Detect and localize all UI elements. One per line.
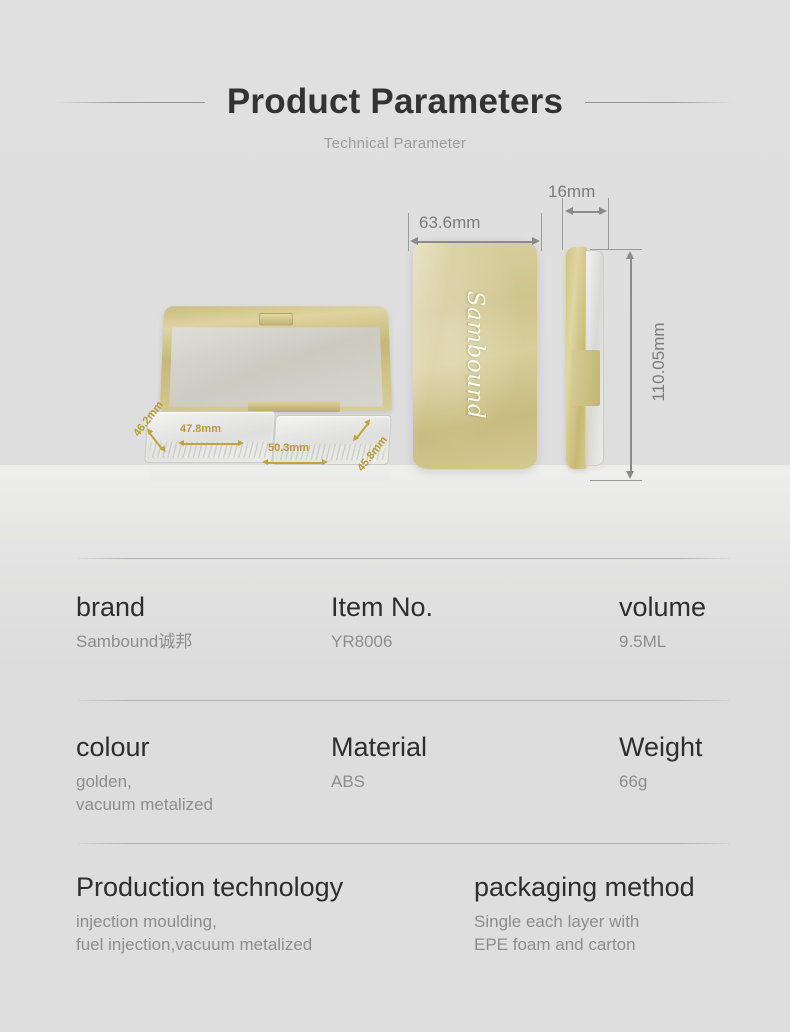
open-compact-view bbox=[140, 305, 395, 505]
side-gold-band bbox=[572, 350, 600, 406]
page-title: Product Parameters bbox=[227, 82, 563, 122]
spec-value-production-line2: fuel injection,vacuum metalized bbox=[76, 933, 474, 956]
spec-row-1: brand Sambound诚邦 Item No. YR8006 volume … bbox=[0, 592, 790, 653]
spec-key-weight: Weight bbox=[619, 732, 769, 762]
spec-cell-production-technology: Production technology injection moulding… bbox=[76, 872, 474, 956]
dimension-label-thickness: 16mm bbox=[548, 182, 595, 202]
ext-line-width-left bbox=[408, 213, 409, 251]
spec-value-volume: 9.5ML bbox=[619, 630, 769, 653]
product-photo-area: Sambound 63.6mm 16mm 110.05mm 46.2mm bbox=[0, 165, 790, 560]
spec-cell-volume: volume 9.5ML bbox=[619, 592, 769, 653]
spec-key-packaging-method: packaging method bbox=[474, 872, 774, 902]
dimension-arrow-height bbox=[626, 251, 635, 479]
ext-line-thickness-left bbox=[562, 198, 563, 250]
spec-key-production-technology: Production technology bbox=[76, 872, 474, 902]
ext-line-height-bottom bbox=[590, 480, 642, 481]
spec-value-brand: Sambound诚邦 bbox=[76, 630, 331, 653]
spec-row-3: Production technology injection moulding… bbox=[0, 872, 790, 956]
brand-logo: Sambound bbox=[462, 291, 488, 419]
dimension-arrow-width bbox=[410, 237, 540, 246]
spec-row-2: colour golden, vacuum metalized Material… bbox=[0, 732, 790, 816]
dimension-label-width: 63.6mm bbox=[419, 213, 480, 233]
spec-value-material: ABS bbox=[331, 770, 619, 793]
spec-key-item-no: Item No. bbox=[331, 592, 619, 622]
ext-line-thickness-right bbox=[608, 198, 609, 250]
compact-lid bbox=[160, 306, 392, 410]
spec-key-colour: colour bbox=[76, 732, 331, 762]
ext-line-width-right bbox=[541, 213, 542, 251]
dimension-label-open-pan-width: 50.3mm bbox=[268, 442, 309, 454]
spec-value-colour-line1: golden, bbox=[76, 770, 331, 793]
ext-line-height-top bbox=[590, 249, 642, 250]
spec-key-volume: volume bbox=[619, 592, 769, 622]
spec-cell-colour: colour golden, vacuum metalized bbox=[76, 732, 331, 816]
spec-cell-item-no: Item No. YR8006 bbox=[331, 592, 619, 653]
compact-clasp bbox=[259, 313, 293, 326]
spec-divider-2 bbox=[78, 700, 730, 701]
compact-tray-left bbox=[144, 411, 276, 463]
spec-cell-brand: brand Sambound诚邦 bbox=[76, 592, 331, 653]
spec-cell-material: Material ABS bbox=[331, 732, 619, 816]
title-row: Product Parameters bbox=[0, 78, 790, 126]
title-decoration-line-right bbox=[585, 102, 733, 103]
compact-mirror-panel bbox=[169, 327, 383, 406]
compact-side-view bbox=[566, 247, 606, 469]
spec-cell-weight: Weight 66g bbox=[619, 732, 769, 816]
spec-value-packaging-line1: Single each layer with bbox=[474, 910, 774, 933]
dimension-label-open-inner-width: 47.8mm bbox=[180, 423, 221, 435]
spec-value-production-line1: injection moulding, bbox=[76, 910, 474, 933]
dimension-arrow-thickness bbox=[565, 207, 607, 216]
spec-cell-packaging-method: packaging method Single each layer with … bbox=[474, 872, 774, 956]
spec-value-weight: 66g bbox=[619, 770, 769, 793]
spec-divider-3 bbox=[78, 843, 730, 844]
product-parameters-page: Product Parameters Technical Parameter bbox=[0, 0, 790, 1032]
dimension-arrow-open-inner-width bbox=[178, 440, 244, 447]
page-subtitle: Technical Parameter bbox=[0, 135, 790, 152]
closed-compact-view: Sambound bbox=[413, 241, 537, 469]
spec-value-item-no: YR8006 bbox=[331, 630, 619, 653]
spec-key-brand: brand bbox=[76, 592, 331, 622]
title-decoration-line-left bbox=[57, 102, 205, 103]
dimension-arrow-open-pan-width bbox=[262, 459, 328, 466]
spec-key-material: Material bbox=[331, 732, 619, 762]
spec-divider-1 bbox=[78, 558, 730, 559]
dimension-label-height: 110.05mm bbox=[649, 307, 669, 417]
spec-value-packaging-line2: EPE foam and carton bbox=[474, 933, 774, 956]
page-header: Product Parameters Technical Parameter bbox=[0, 78, 790, 152]
spec-value-colour-line2: vacuum metalized bbox=[76, 793, 331, 816]
